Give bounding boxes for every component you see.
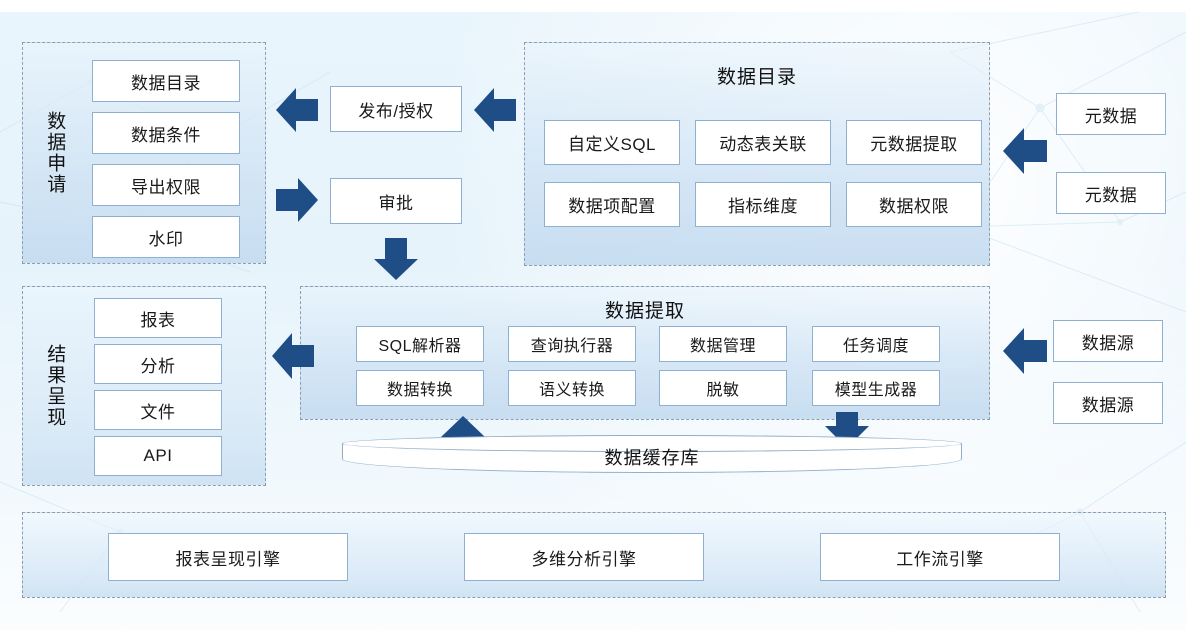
engine-item-1[interactable]: 多维分析引擎 xyxy=(464,533,704,581)
publish-box[interactable]: 发布/授权 xyxy=(330,86,462,132)
datasource-item-1[interactable]: 数据源 xyxy=(1053,382,1163,424)
arrow-apply-to-approve xyxy=(276,176,318,224)
catalog-item-2[interactable]: 元数据提取 xyxy=(846,120,982,165)
apply-item-0[interactable]: 数据目录 xyxy=(92,60,240,102)
data-cache-label: 数据缓存库 xyxy=(342,435,962,479)
catalog-item-3[interactable]: 数据项配置 xyxy=(544,182,680,227)
extract-panel-title: 数据提取 xyxy=(300,296,990,323)
arrow-datasource-to-extract xyxy=(1003,326,1047,376)
diagram-canvas: 数据申请 数据目录 数据条件 导出权限 水印 发布/授权 审批 数据目录 自定义… xyxy=(0,0,1186,630)
data-cache-store[interactable]: 数据缓存库 xyxy=(342,435,962,481)
apply-item-3[interactable]: 水印 xyxy=(92,216,240,258)
metadata-item-0[interactable]: 元数据 xyxy=(1056,93,1166,135)
extract-item-2[interactable]: 数据管理 xyxy=(659,326,787,362)
extract-item-6[interactable]: 脱敏 xyxy=(659,370,787,406)
extract-item-5[interactable]: 语义转换 xyxy=(508,370,636,406)
arrow-extract-to-result xyxy=(272,330,314,382)
extract-item-1[interactable]: 查询执行器 xyxy=(508,326,636,362)
extract-item-4[interactable]: 数据转换 xyxy=(356,370,484,406)
arrow-publish-to-apply xyxy=(276,86,318,134)
apply-panel-label: 数据申请 xyxy=(30,58,78,248)
metadata-item-1[interactable]: 元数据 xyxy=(1056,172,1166,214)
arrow-catalog-to-publish xyxy=(474,86,516,134)
result-item-0[interactable]: 报表 xyxy=(94,298,222,338)
datasource-item-0[interactable]: 数据源 xyxy=(1053,320,1163,362)
catalog-panel-title: 数据目录 xyxy=(524,62,990,89)
catalog-item-4[interactable]: 指标维度 xyxy=(695,182,831,227)
result-item-1[interactable]: 分析 xyxy=(94,344,222,384)
engine-item-2[interactable]: 工作流引擎 xyxy=(820,533,1060,581)
result-item-2[interactable]: 文件 xyxy=(94,390,222,430)
catalog-item-5[interactable]: 数据权限 xyxy=(846,182,982,227)
catalog-item-0[interactable]: 自定义SQL xyxy=(544,120,680,165)
result-item-3[interactable]: API xyxy=(94,436,222,476)
extract-item-3[interactable]: 任务调度 xyxy=(812,326,940,362)
apply-item-2[interactable]: 导出权限 xyxy=(92,164,240,206)
arrow-approve-to-extract xyxy=(372,238,420,280)
catalog-item-1[interactable]: 动态表关联 xyxy=(695,120,831,165)
extract-item-0[interactable]: SQL解析器 xyxy=(356,326,484,362)
arrow-metadata-to-catalog xyxy=(1003,126,1047,176)
result-panel-label: 结果呈现 xyxy=(30,300,78,472)
extract-item-7[interactable]: 模型生成器 xyxy=(812,370,940,406)
engine-item-0[interactable]: 报表呈现引擎 xyxy=(108,533,348,581)
approve-box[interactable]: 审批 xyxy=(330,178,462,224)
apply-item-1[interactable]: 数据条件 xyxy=(92,112,240,154)
